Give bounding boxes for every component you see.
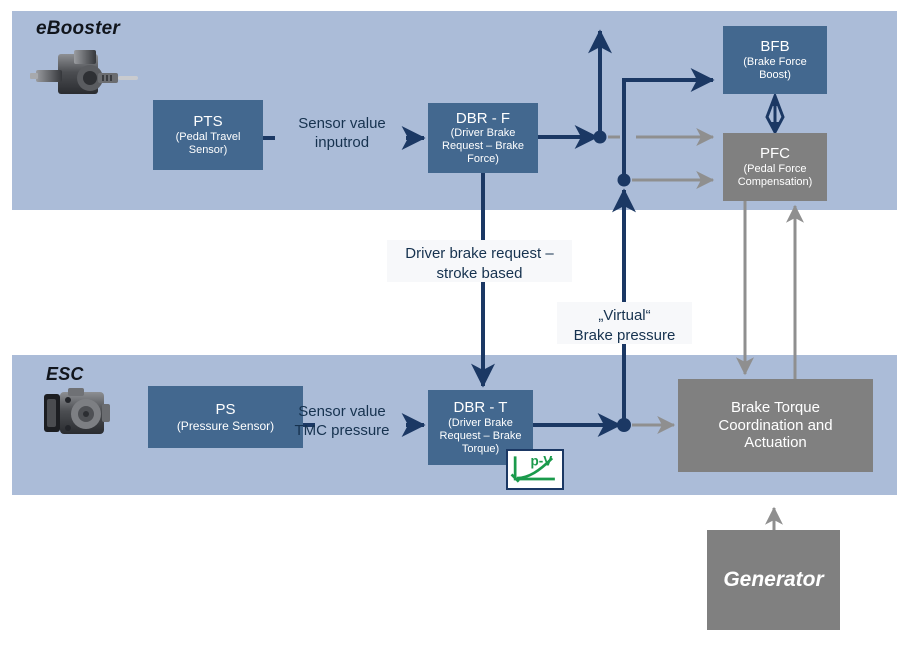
label-sensor-value-tmc-pressure: Sensor valueTMC pressure [277,403,407,441]
pv-curve-icon[interactable]: p-V [506,449,564,490]
pv-curve-glyph: p-V [508,451,562,488]
block-dbr-f[interactable]: DBR - F (Driver BrakeRequest – BrakeForc… [428,103,538,173]
callout-virtual-brake-pressure: „Virtual“Brake pressure [557,302,692,344]
block-pfc-subtitle: (Pedal ForceCompensation) [738,163,813,189]
block-ps-title: PS [215,401,235,419]
block-generator-title: Generator [723,568,823,593]
block-dbr-f-title: DBR - F [456,110,510,128]
block-pfc[interactable]: PFC (Pedal ForceCompensation) [723,133,827,201]
diagram-canvas: eBooster ESC [0,0,921,645]
block-brake-torque-coordination[interactable]: Brake TorqueCoordination andActuation [678,379,873,472]
label-sensor-value-inputrod: Sensor valueinputrod [282,115,402,153]
block-pts-title: PTS [193,113,222,131]
wire-bfb-pfc-bidirectional [767,96,783,132]
block-dbr-f-subtitle: (Driver BrakeRequest – BrakeForce) [442,127,524,166]
block-pts[interactable]: PTS (Pedal TravelSensor) [153,100,263,170]
junction-dot-dbrf [594,131,607,144]
block-dbr-t-title: DBR - T [454,399,508,417]
block-bfb-subtitle: (Brake ForceBoost) [743,56,807,82]
block-bfb[interactable]: BFB (Brake ForceBoost) [723,26,827,94]
block-ps-subtitle: (Pressure Sensor) [177,419,274,433]
block-bfb-title: BFB [760,38,789,56]
pv-label: p-V [530,453,552,468]
block-brake-torque-coordination-title: Brake TorqueCoordination andActuation [718,399,832,452]
block-pts-subtitle: (Pedal TravelSensor) [176,131,241,157]
block-generator[interactable]: Generator [707,530,840,630]
block-pfc-title: PFC [760,145,790,163]
callout-stroke-based-request: Driver brake request –stroke based [387,240,572,282]
